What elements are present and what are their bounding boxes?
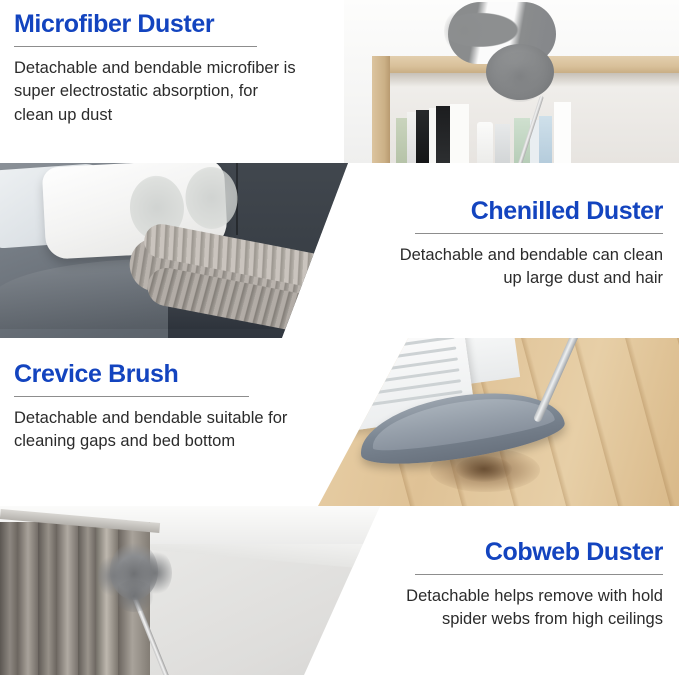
book-spine <box>429 108 436 163</box>
panel-3-text-block: Crevice Brush Detachable and bendable su… <box>0 338 344 506</box>
book-spine <box>495 124 510 163</box>
panel-4-text-block: Cobweb Duster Detachable helps remove wi… <box>335 506 679 675</box>
panel-4-heading: Cobweb Duster <box>383 538 663 567</box>
panel-3-divider <box>14 396 249 397</box>
panel-2-text-block: Chenilled Duster Detachable and bendable… <box>335 163 679 338</box>
book-spine-roc <box>450 104 469 163</box>
book-spine <box>407 112 416 163</box>
infographic-sheet: Microfiber Duster Detachable and bendabl… <box>0 0 679 675</box>
panel-1-divider <box>14 46 257 47</box>
panel-1-text-block: Microfiber Duster Detachable and bendabl… <box>0 0 344 163</box>
panel-microfiber-duster: Microfiber Duster Detachable and bendabl… <box>0 0 679 163</box>
panel-2-divider <box>415 233 663 234</box>
panel-1-body: Detachable and bendable microfiber is su… <box>14 57 296 127</box>
panel-4-divider <box>415 574 663 575</box>
book-spine <box>436 106 450 163</box>
shelf-side-board <box>372 56 390 163</box>
dust-pile <box>456 456 512 482</box>
curtain-fold <box>38 522 57 675</box>
curtain-fold <box>18 522 38 675</box>
curtain-fold <box>78 522 96 675</box>
duster-fuzz <box>444 8 484 54</box>
book-spine <box>539 116 552 163</box>
duster-fuzz <box>492 52 548 102</box>
panel-2-body: Detachable and bendable can clean up lar… <box>383 244 663 291</box>
book-spine <box>477 122 493 163</box>
microfiber-duster-on-bookshelf-photo <box>344 0 679 163</box>
panel-4-body: Detachable helps remove with hold spider… <box>383 585 663 632</box>
panel-3-heading: Crevice Brush <box>14 360 296 389</box>
duster-frond <box>114 580 154 612</box>
curtain-fold <box>0 522 18 675</box>
book-spine-kelly-h <box>554 102 571 163</box>
book-spine <box>396 118 407 163</box>
panel-3-body: Detachable and bendable suitable for cle… <box>14 407 296 454</box>
panel-2-heading: Chenilled Duster <box>383 197 663 226</box>
cobweb-duster-head <box>96 536 172 608</box>
panel-1-heading: Microfiber Duster <box>14 10 296 39</box>
book-spine <box>416 110 429 163</box>
curtain-fold <box>57 522 78 675</box>
